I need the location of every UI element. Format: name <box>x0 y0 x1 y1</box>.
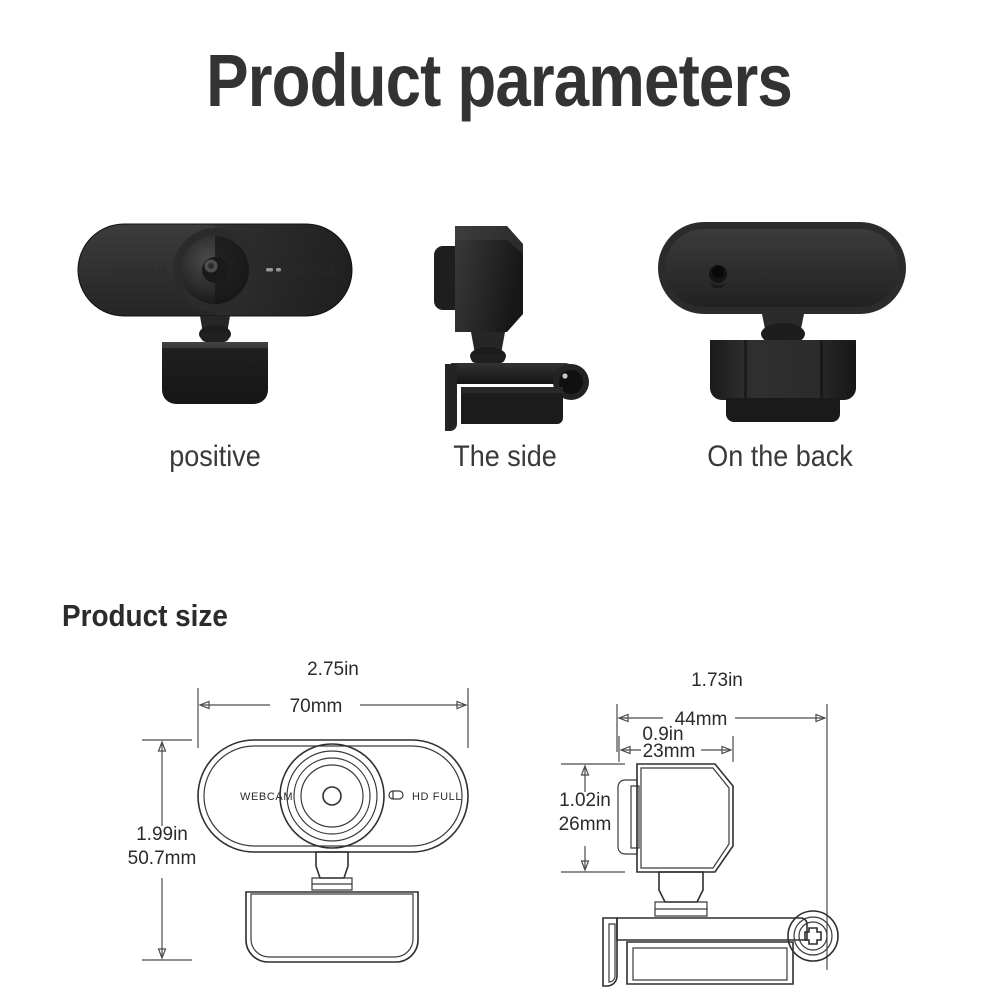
hd-full-label-front: HD FULL <box>288 265 338 277</box>
webcam-label-front: WEBCAM <box>113 265 166 277</box>
hd-full-label-drawing: HD FULL <box>412 791 462 803</box>
webcam-front-line-drawing-icon: 2.75in 70mm 1.99in 50.7mm WEBCAM <box>120 640 520 990</box>
caption-back: On the back <box>654 440 906 474</box>
front-width-mm-label: 70mm <box>290 696 343 717</box>
product-size-drawings: 2.75in 70mm 1.99in 50.7mm WEBCAM <box>0 640 998 998</box>
product-view-side: The side <box>395 212 615 512</box>
product-views-row: WEBCAM HD FULL positive <box>0 212 998 512</box>
front-height-mm-label: 50.7mm <box>128 848 197 869</box>
webcam-side-line-drawing-icon: 1.73in 44mm 0.9in 23mm 1.02in 26mm <box>555 640 955 990</box>
caption-side: The side <box>406 440 604 474</box>
side-depth-inch-label: 1.73in <box>691 670 743 691</box>
side-body-height-mm-label: 26mm <box>559 814 612 835</box>
product-size-heading: Product size <box>62 598 228 634</box>
side-body-depth-mm-label: 23mm <box>643 741 696 762</box>
product-view-back: On the back <box>640 212 920 512</box>
page-title: Product parameters <box>70 42 928 120</box>
product-view-front: WEBCAM HD FULL positive <box>70 212 360 512</box>
side-body-height-inch-label: 1.02in <box>559 790 611 811</box>
caption-front: positive <box>85 440 346 474</box>
front-width-inch-label: 2.75in <box>307 659 359 680</box>
webcam-side-icon <box>415 212 615 432</box>
webcam-back-icon <box>650 212 915 432</box>
webcam-label-drawing: WEBCAM <box>240 791 293 803</box>
front-height-inch-label: 1.99in <box>136 824 188 845</box>
webcam-front-icon: WEBCAM HD FULL <box>70 212 360 432</box>
